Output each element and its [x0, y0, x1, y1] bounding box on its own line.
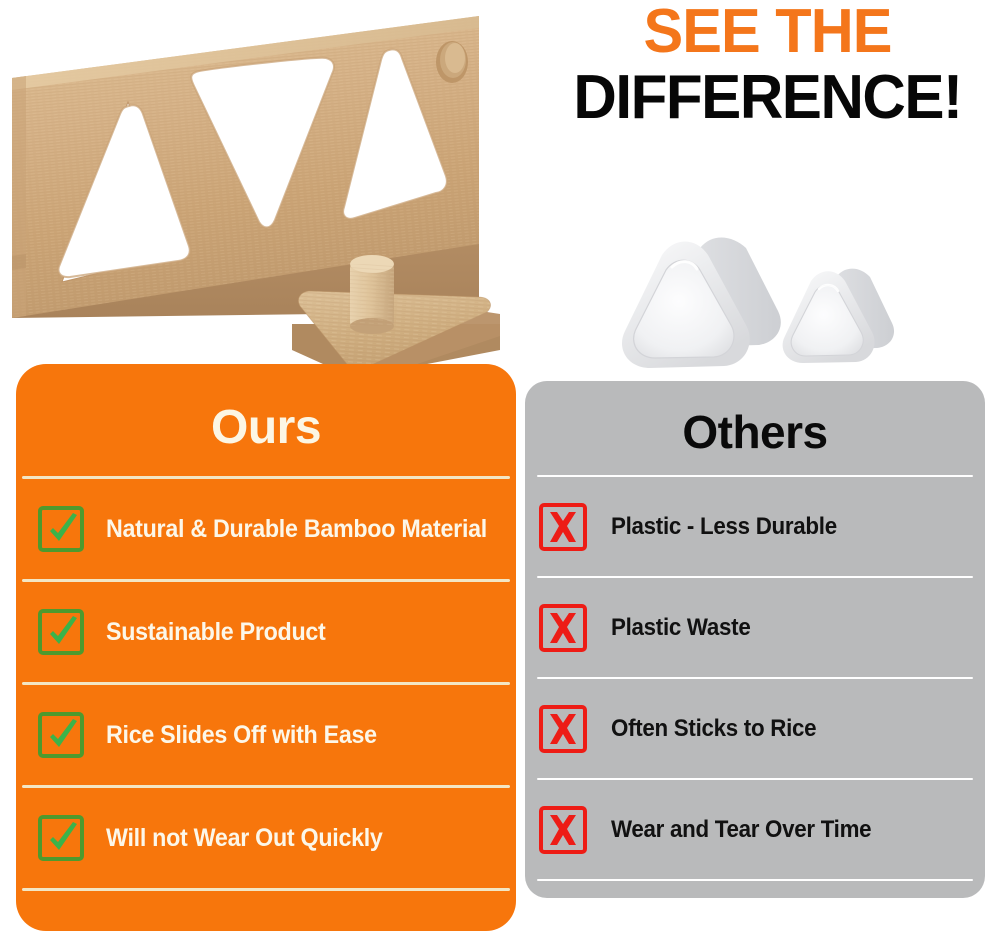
list-item-label: Wear and Tear Over Time: [611, 816, 871, 844]
list-item: Rice Slides Off with Ease: [16, 685, 516, 785]
ours-bottom-divider: [22, 888, 510, 891]
list-item: Plastic - Less Durable: [525, 477, 985, 576]
list-item-label: Natural & Durable Bamboo Material: [106, 515, 487, 544]
list-item-label: Plastic Waste: [611, 614, 750, 642]
red-x-icon: [539, 705, 587, 753]
green-check-icon: [38, 609, 84, 655]
list-item: Often Sticks to Rice: [525, 679, 985, 778]
red-x-icon: [539, 604, 587, 652]
list-item-label: Often Sticks to Rice: [611, 715, 816, 743]
ours-panel: Ours Natural & Durable Bamboo Material: [16, 364, 516, 931]
bamboo-onigiri-mold-photo: [0, 6, 520, 386]
others-panel: Others Plastic - Less Durable Plastic: [525, 381, 985, 898]
list-item: Natural & Durable Bamboo Material: [16, 479, 516, 579]
list-item-label: Will not Wear Out Quickly: [106, 824, 383, 853]
list-item-label: Plastic - Less Durable: [611, 513, 837, 541]
green-check-icon: [38, 815, 84, 861]
list-item: Will not Wear Out Quickly: [16, 788, 516, 888]
plastic-onigiri-molds-photo: [600, 215, 930, 395]
list-item-label: Rice Slides Off with Ease: [106, 721, 377, 750]
list-item: Sustainable Product: [16, 582, 516, 682]
green-check-icon: [38, 506, 84, 552]
bamboo-illustration: [0, 6, 520, 386]
list-item: Plastic Waste: [525, 578, 985, 677]
others-bottom-divider: [537, 879, 973, 881]
ours-panel-title: Ours: [16, 402, 516, 454]
green-check-icon: [38, 712, 84, 758]
others-panel-title: Others: [525, 407, 985, 457]
ours-feature-list: Natural & Durable Bamboo Material Sustai…: [16, 479, 516, 891]
headline-line-2: DIFFERENCE!: [547, 62, 988, 134]
plastic-illustration: [600, 215, 930, 395]
others-feature-list: Plastic - Less Durable Plastic Waste: [525, 477, 985, 881]
list-item-label: Sustainable Product: [106, 618, 325, 647]
red-x-icon: [539, 503, 587, 551]
comparison-infographic: SEE THE DIFFERENCE! Ours Natural & Durab…: [0, 0, 1000, 931]
red-x-icon: [539, 806, 587, 854]
list-item: Wear and Tear Over Time: [525, 780, 985, 879]
headline: SEE THE DIFFERENCE!: [540, 2, 995, 134]
headline-line-1: SEE THE: [549, 2, 986, 62]
